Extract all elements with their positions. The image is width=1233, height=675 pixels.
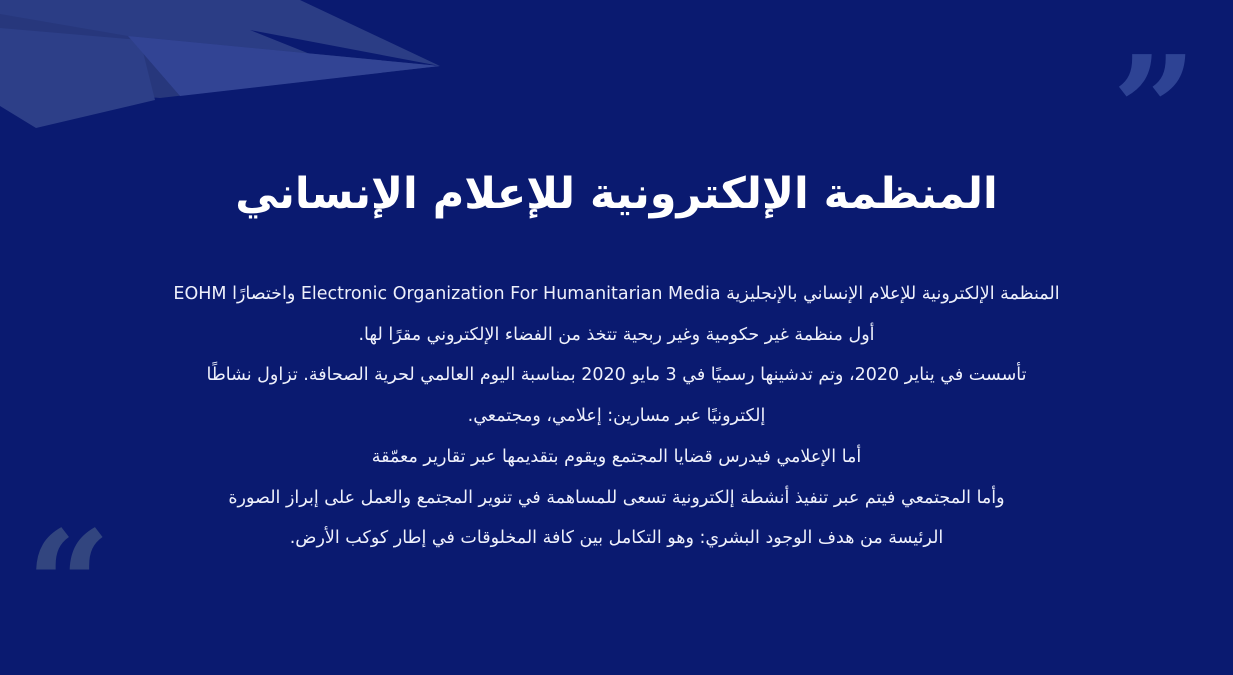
body-line: وأما المجتمعي فيتم عبر تنفيذ أنشطة إلكتر… <box>82 478 1152 519</box>
body-line: أول منظمة غير حكومية وغير ربحية تتخذ من … <box>82 315 1152 356</box>
page-title: المنظمة الإلكترونية للإعلام الإنساني <box>235 168 997 222</box>
body-line: أما الإعلامي فيدرس قضايا المجتمع ويقوم ب… <box>82 437 1152 478</box>
body-line: إلكترونيًا عبر مسارين: إعلامي، ومجتمعي. <box>82 396 1152 437</box>
presentation-slide: ” “ المنظمة الإلكترونية للإعلام الإنساني… <box>0 0 1233 675</box>
body-line: الرئيسة من هدف الوجود البشري: وهو التكام… <box>82 518 1152 559</box>
body-paragraph: المنظمة الإلكترونية للإعلام الإنساني بال… <box>82 274 1152 559</box>
body-line: المنظمة الإلكترونية للإعلام الإنساني بال… <box>82 274 1152 315</box>
slide-content: المنظمة الإلكترونية للإعلام الإنساني الم… <box>0 0 1233 675</box>
body-line: تأسست في يناير 2020، وتم تدشينها رسميًا … <box>82 355 1152 396</box>
